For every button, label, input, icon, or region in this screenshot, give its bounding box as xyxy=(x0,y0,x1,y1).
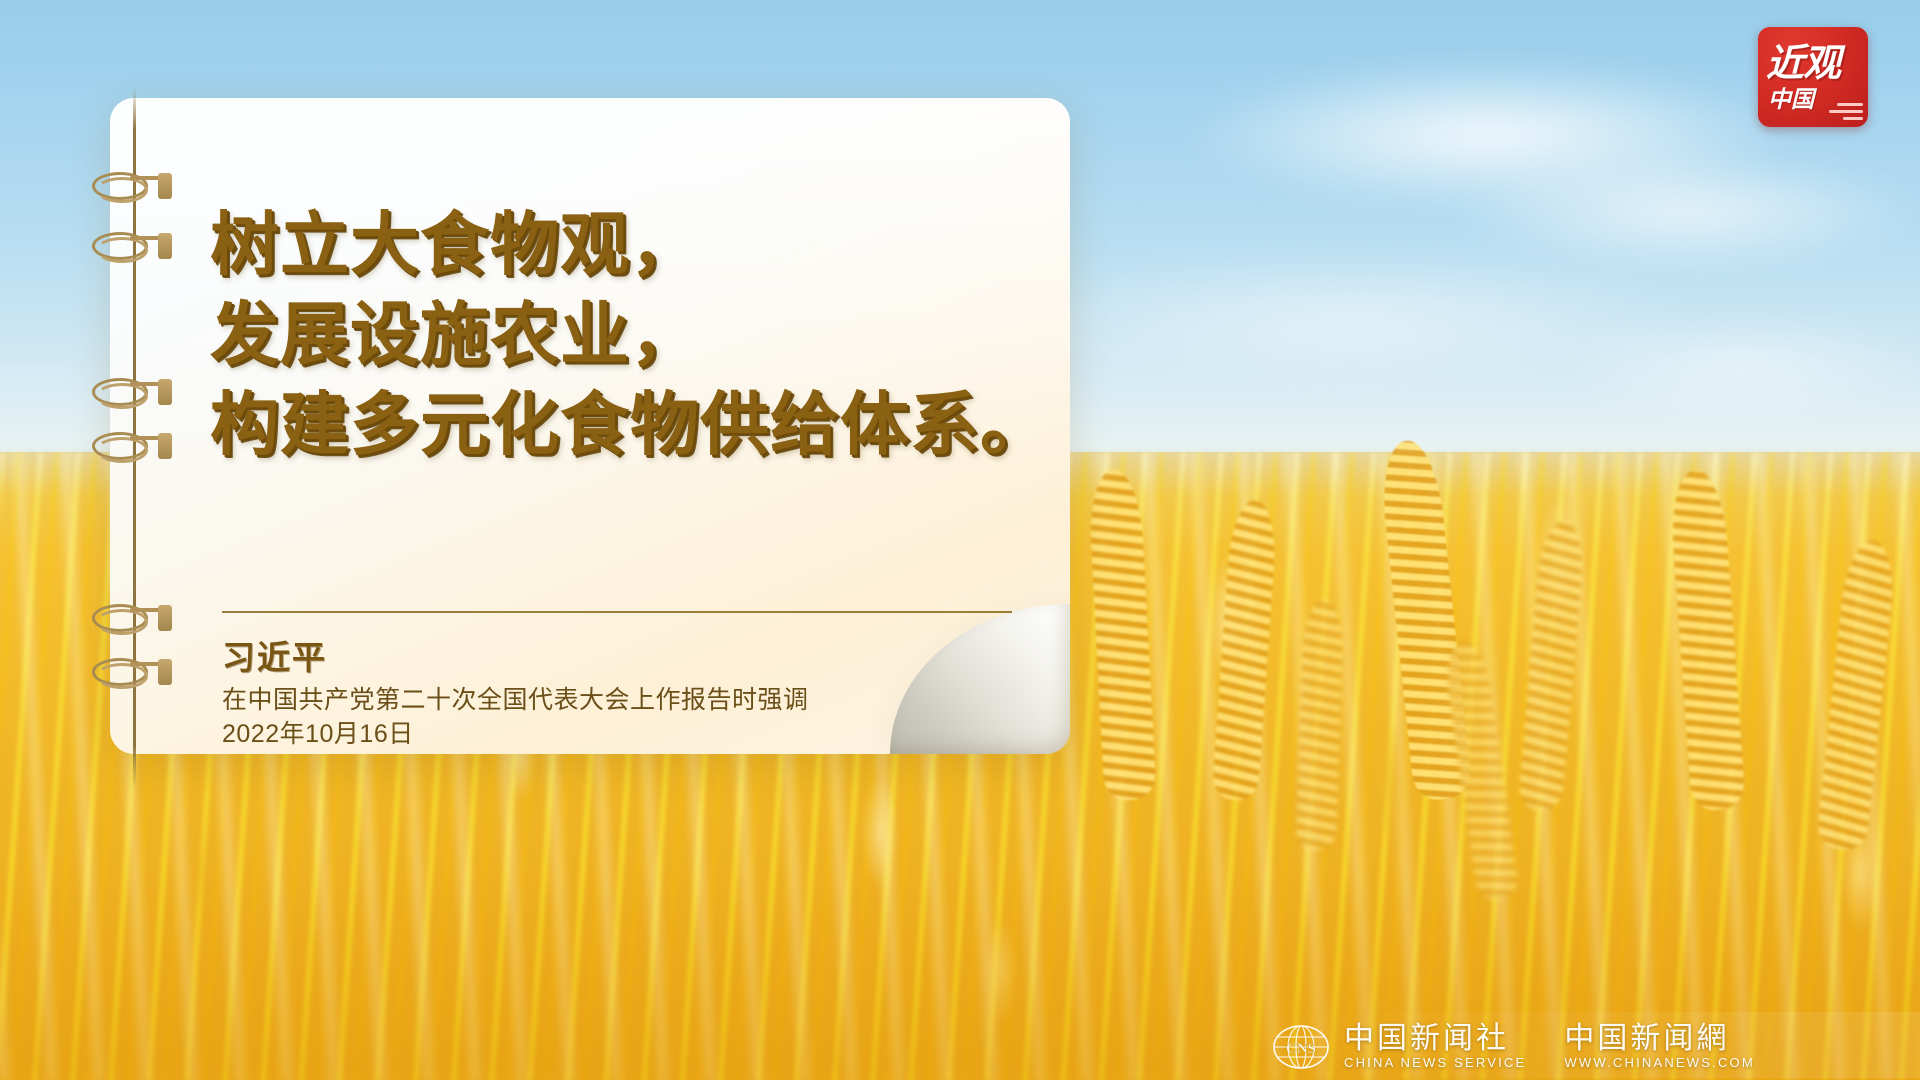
watermark-site-cn: 中国新闻網 xyxy=(1564,1023,1755,1055)
occasion-text: 在中国共产党第二十次全国代表大会上作报告时强调 xyxy=(222,682,809,717)
spiral-ring-icon xyxy=(92,172,172,200)
watermark-agency-en: CHINA NEWS SERVICE xyxy=(1344,1055,1526,1071)
attribution-block: 习近平 在中国共产党第二十次全国代表大会上作报告时强调 2022年10月16日 xyxy=(222,634,809,752)
spiral-ring-icon xyxy=(92,432,172,460)
quote-line-1: 树立大食物观， xyxy=(210,200,1020,290)
spiral-ring-icon xyxy=(92,378,172,406)
watermark-agency-cn: 中国新闻社 xyxy=(1344,1023,1526,1055)
logo-swoosh-icon xyxy=(1819,99,1863,121)
logo-title-primary: 近观 xyxy=(1766,37,1860,89)
quote-line-2: 发展设施农业， xyxy=(210,290,1020,380)
program-logo[interactable]: 近观 中国 xyxy=(1758,27,1868,127)
quote-card: 树立大食物观， 发展设施农业， 构建多元化食物供给体系。 习近平 在中国共产党第… xyxy=(110,98,1070,754)
china-news-watermark: CNS 中国新闻社 CHINA NEWS SERVICE 中国新闻網 WWW.C… xyxy=(1272,1016,1912,1078)
quote-block: 树立大食物观， 发展设施农业， 构建多元化食物供给体系。 xyxy=(210,200,1020,470)
svg-text:CNS: CNS xyxy=(1286,1041,1316,1057)
spiral-ring-icon xyxy=(92,604,172,632)
cns-globe-icon: CNS xyxy=(1272,1024,1330,1070)
attribution-divider xyxy=(222,611,1012,613)
spiral-ring-icon xyxy=(92,232,172,260)
card-content: 树立大食物观， 发展设施农业， 构建多元化食物供给体系。 习近平 在中国共产党第… xyxy=(110,98,1070,754)
quote-line-3: 构建多元化食物供给体系。 xyxy=(210,380,1020,470)
watermark-site: 中国新闻網 WWW.CHINANEWS.COM xyxy=(1564,1023,1755,1071)
watermark-site-en: WWW.CHINANEWS.COM xyxy=(1564,1055,1755,1071)
spiral-ring-icon xyxy=(92,658,172,686)
cloud xyxy=(1450,150,1920,270)
author-name: 习近平 xyxy=(222,634,809,682)
quote-date: 2022年10月16日 xyxy=(222,717,809,752)
watermark-agency: 中国新闻社 CHINA NEWS SERVICE xyxy=(1344,1023,1526,1071)
cloud xyxy=(1550,310,1920,420)
